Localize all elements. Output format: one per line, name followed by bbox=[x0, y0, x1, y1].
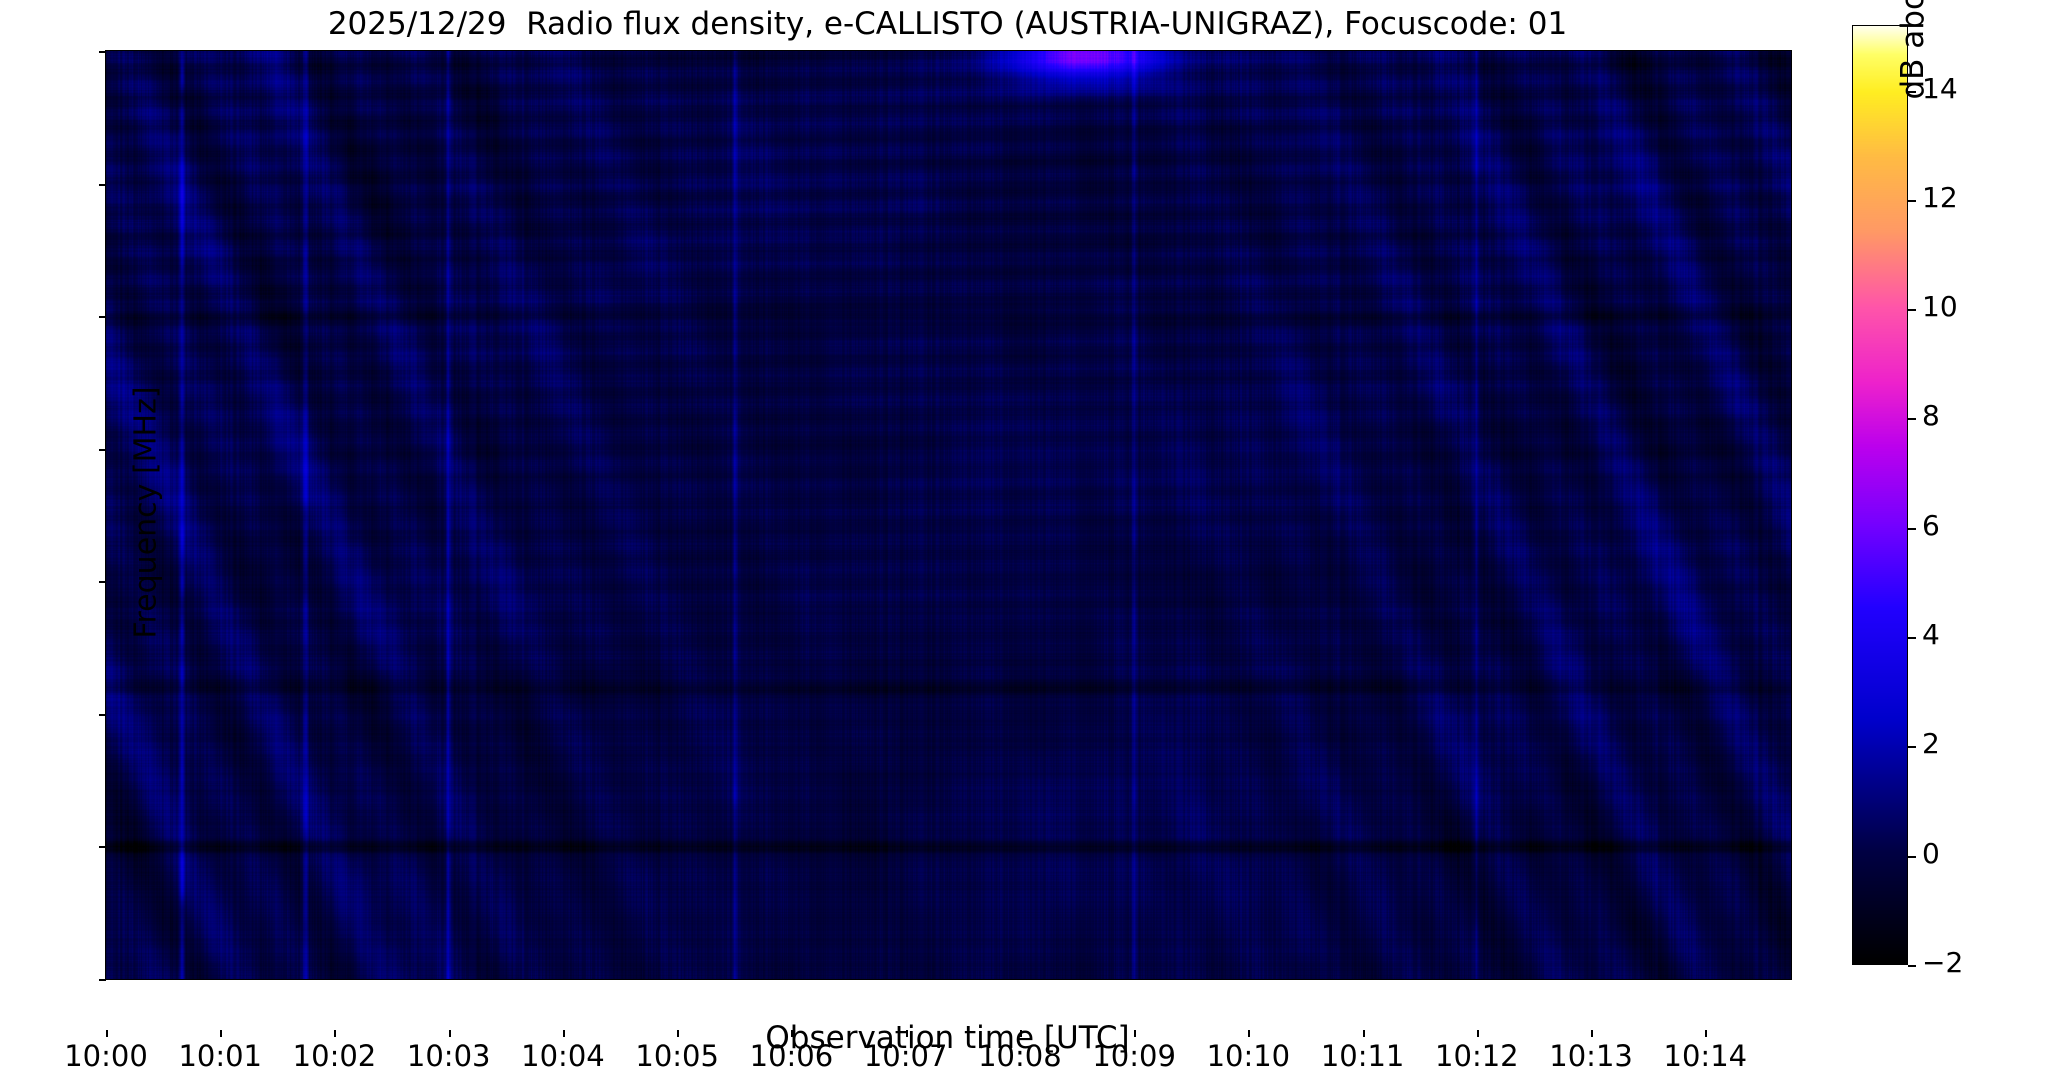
colorbar-tick-label: −2 bbox=[1922, 946, 1963, 979]
colorbar-tick-label: 4 bbox=[1922, 618, 1940, 651]
colorbar-tick-mark bbox=[1908, 746, 1916, 748]
colorbar-tick-label: 2 bbox=[1922, 727, 1940, 760]
colorbar-tick-label: 10 bbox=[1922, 290, 1958, 323]
y-tick-mark bbox=[99, 449, 106, 451]
y-tick-mark bbox=[99, 581, 106, 583]
y-tick-mark bbox=[99, 51, 106, 53]
colorbar-tick-mark bbox=[1908, 528, 1916, 530]
colorbar-tick-label: 8 bbox=[1922, 399, 1940, 432]
colorbar-tick-label: 6 bbox=[1922, 509, 1940, 542]
colorbar-tick-mark bbox=[1908, 418, 1916, 420]
spectrogram-plot-area: Frequency [MHz] 8075706560555045 10:0010… bbox=[105, 50, 1792, 980]
spectrogram-figure: 2025/12/29 Radio flux density, e-CALLIST… bbox=[0, 0, 2047, 1067]
y-tick-mark bbox=[99, 184, 106, 186]
colorbar-tick-mark bbox=[1908, 637, 1916, 639]
spectrogram-image bbox=[106, 51, 1791, 979]
y-tick-mark bbox=[99, 846, 106, 848]
colorbar-tick-label: 0 bbox=[1922, 837, 1940, 870]
y-axis-label: Frequency [MHz] bbox=[129, 163, 164, 863]
y-tick-mark bbox=[99, 316, 106, 318]
x-axis-label: Observation time [UTC] bbox=[105, 1020, 1790, 1056]
colorbar-tick-mark bbox=[1908, 309, 1916, 311]
colorbar-tick-mark bbox=[1908, 965, 1916, 967]
colorbar-label: dB above background bbox=[1895, 0, 1931, 210]
y-tick-mark bbox=[99, 714, 106, 716]
y-tick-mark bbox=[99, 979, 106, 981]
colorbar-tick-mark bbox=[1908, 856, 1916, 858]
page-title: 2025/12/29 Radio flux density, e-CALLIST… bbox=[105, 4, 1790, 44]
